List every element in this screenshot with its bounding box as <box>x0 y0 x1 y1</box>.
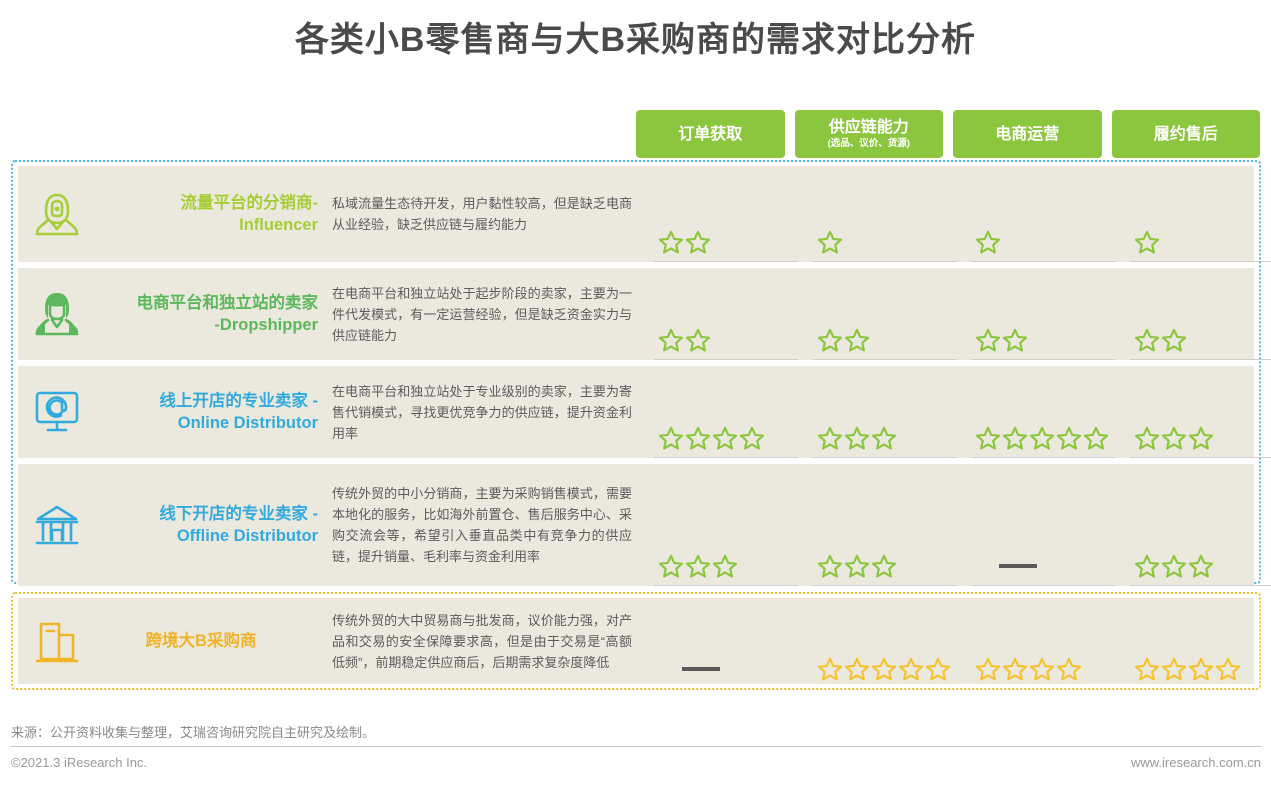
column-header-3: 电商运营 <box>953 110 1102 158</box>
rating-stars <box>813 325 870 355</box>
star-icon <box>1161 656 1187 682</box>
rating-stars <box>1130 227 1160 257</box>
star-icon <box>844 327 870 353</box>
rating-stars <box>654 423 765 453</box>
row-title: 流量平台的分销商-Influencer <box>84 192 328 236</box>
rating-underline <box>1130 261 1271 262</box>
rating-stars <box>1130 325 1187 355</box>
star-icon <box>817 229 843 255</box>
star-icon <box>1134 656 1160 682</box>
row-title: 跨境大B采购商 <box>84 630 328 652</box>
rating-underline <box>654 585 798 586</box>
rating-stars <box>1130 423 1214 453</box>
star-icon <box>685 327 711 353</box>
row-label-cell: 线下开店的专业卖家 -Offline Distributor <box>18 464 328 586</box>
column-header-label: 供应链能力 <box>829 118 909 137</box>
rating-stars <box>813 551 897 581</box>
rating-strip <box>654 464 1271 586</box>
rating-stars <box>813 654 951 684</box>
rating-underline <box>971 457 1115 458</box>
star-icon <box>871 656 897 682</box>
column-header-2: 供应链能力(选品、议价、货源) <box>795 110 944 158</box>
star-icon <box>658 553 684 579</box>
warehouse-building-icon <box>33 617 81 665</box>
website-text: www.iresearch.com.cn <box>1131 755 1261 770</box>
rating-stars <box>971 423 1109 453</box>
rating-stars <box>1130 654 1241 684</box>
star-icon <box>658 229 684 255</box>
star-icon <box>1134 553 1160 579</box>
star-icon <box>739 425 765 451</box>
star-icon <box>685 229 711 255</box>
rating-strip <box>654 268 1271 360</box>
rating-stars <box>1130 551 1214 581</box>
rating-underline <box>971 359 1115 360</box>
monitor-at-icon <box>30 385 84 439</box>
column-header-label: 履约售后 <box>1154 125 1218 144</box>
rating-underline <box>654 261 798 262</box>
small-b-retailers-block: 流量平台的分销商-Influencer私域流量生态待开发，用户黏性较高，但是缺乏… <box>11 160 1261 584</box>
rating-underline <box>813 585 957 586</box>
rating-cell <box>654 598 803 684</box>
storefront-icon <box>30 498 84 552</box>
table-row: 线上开店的专业卖家 -Online Distributor在电商平台和独立站处于… <box>18 366 1254 458</box>
column-header-sublabel: (选品、议价、货源) <box>828 138 910 150</box>
rating-strip <box>654 166 1271 262</box>
star-icon <box>1161 553 1187 579</box>
star-icon <box>658 327 684 353</box>
star-icon <box>1134 425 1160 451</box>
star-icon <box>1188 425 1214 451</box>
star-icon <box>925 656 951 682</box>
star-icon <box>712 553 738 579</box>
influencer-person-icon <box>30 187 84 241</box>
rating-cell <box>971 268 1120 360</box>
rating-cell <box>1130 366 1271 458</box>
rating-cell <box>1130 166 1271 262</box>
star-icon <box>1188 656 1214 682</box>
rating-stars <box>971 227 1001 257</box>
row-label-cell: 线上开店的专业卖家 -Online Distributor <box>18 366 328 458</box>
rating-underline <box>813 261 957 262</box>
copyright-text: ©2021.3 iResearch Inc. <box>11 755 147 770</box>
row-description: 传统外贸的中小分销商，主要为采购销售模式，需要本地化的服务，比如海外前置仓、售后… <box>328 464 638 586</box>
source-note: 来源：公开资料收集与整理，艾瑞咨询研究院自主研究及绘制。 <box>11 722 1261 747</box>
row-description: 传统外贸的大中贸易商与批发商，议价能力强，对产品和交易的安全保障要求高，但是由于… <box>328 598 638 684</box>
monitor-at-icon <box>33 389 81 435</box>
column-header-1: 订单获取 <box>636 110 785 158</box>
column-header-label: 订单获取 <box>678 125 742 144</box>
star-icon <box>844 553 870 579</box>
rating-stars <box>971 654 1082 684</box>
star-icon <box>712 425 738 451</box>
star-icon <box>817 656 843 682</box>
rating-underline <box>813 457 957 458</box>
big-b-buyer-block: 跨境大B采购商传统外贸的大中贸易商与批发商，议价能力强，对产品和交易的安全保障要… <box>11 592 1261 690</box>
rating-underline <box>971 261 1115 262</box>
rating-stars <box>654 325 711 355</box>
rating-stars <box>813 227 843 257</box>
table-row: 电商平台和独立站的卖家-Dropshipper在电商平台和独立站处于起步阶段的卖… <box>18 268 1254 360</box>
rating-cell <box>813 268 962 360</box>
star-icon <box>1134 327 1160 353</box>
star-icon <box>1029 656 1055 682</box>
row-label-cell: 流量平台的分销商-Influencer <box>18 166 328 262</box>
dash-icon <box>682 667 720 671</box>
influencer-person-icon <box>34 189 80 239</box>
rating-strip <box>654 366 1271 458</box>
star-icon <box>1161 425 1187 451</box>
rating-cell <box>1130 464 1271 586</box>
dash-icon <box>999 564 1037 568</box>
footer-bar: ©2021.3 iResearch Inc. www.iresearch.com… <box>11 755 1261 770</box>
rating-cell <box>813 464 962 586</box>
warehouse-building-icon <box>30 614 84 668</box>
star-icon <box>685 425 711 451</box>
infographic-page: 各类小B零售商与大B采购商的需求对比分析 订单获取供应链能力(选品、议价、货源)… <box>0 0 1271 788</box>
rating-stars <box>654 227 711 257</box>
title-area: 各类小B零售商与大B采购商的需求对比分析 <box>0 0 1271 62</box>
star-icon <box>1056 425 1082 451</box>
rating-underline <box>971 585 1115 586</box>
row-description: 在电商平台和独立站处于起步阶段的卖家，主要为一件代发模式，有一定运营经验，但是缺… <box>328 268 638 360</box>
dropshipper-person-icon <box>30 287 84 341</box>
rating-stars <box>654 551 738 581</box>
rating-cell <box>813 366 962 458</box>
rating-underline <box>654 359 798 360</box>
rating-cell <box>654 366 803 458</box>
rating-cell <box>971 166 1120 262</box>
dropshipper-person-icon <box>34 289 80 339</box>
star-icon <box>871 553 897 579</box>
rating-cell <box>1130 268 1271 360</box>
rating-stars <box>813 423 897 453</box>
row-title: 线上开店的专业卖家 -Online Distributor <box>84 390 328 434</box>
row-description: 在电商平台和独立站处于专业级别的卖家，主要为寄售代销模式，寻找更优竞争力的供应链… <box>328 366 638 458</box>
star-icon <box>1002 425 1028 451</box>
rating-strip <box>654 598 1271 684</box>
star-icon <box>975 327 1001 353</box>
star-icon <box>1134 229 1160 255</box>
star-icon <box>1083 425 1109 451</box>
star-icon <box>844 656 870 682</box>
rating-cell <box>971 464 1120 586</box>
star-icon <box>685 553 711 579</box>
star-icon <box>871 425 897 451</box>
star-icon <box>817 553 843 579</box>
star-icon <box>1056 656 1082 682</box>
rating-cell <box>654 166 803 262</box>
column-header-label: 电商运营 <box>995 125 1059 144</box>
rating-stars <box>654 654 720 684</box>
star-icon <box>1002 656 1028 682</box>
rating-underline <box>1130 457 1271 458</box>
table-row: 流量平台的分销商-Influencer私域流量生态待开发，用户黏性较高，但是缺乏… <box>18 166 1254 262</box>
star-icon <box>844 425 870 451</box>
rating-underline <box>654 457 798 458</box>
row-description: 私域流量生态待开发，用户黏性较高，但是缺乏电商从业经验，缺乏供应链与履约能力 <box>328 166 638 262</box>
star-icon <box>1161 327 1187 353</box>
rating-cell <box>654 268 803 360</box>
star-icon <box>975 229 1001 255</box>
star-icon <box>1188 553 1214 579</box>
rating-cell <box>1130 598 1271 684</box>
rating-cell <box>654 464 803 586</box>
star-icon <box>817 327 843 353</box>
column-header-4: 履约售后 <box>1112 110 1261 158</box>
rating-stars <box>971 551 1037 581</box>
row-title: 线下开店的专业卖家 -Offline Distributor <box>84 503 328 547</box>
page-title: 各类小B零售商与大B采购商的需求对比分析 <box>0 18 1271 62</box>
star-icon <box>1215 656 1241 682</box>
star-icon <box>1002 327 1028 353</box>
row-label-cell: 跨境大B采购商 <box>18 598 328 684</box>
row-label-cell: 电商平台和独立站的卖家-Dropshipper <box>18 268 328 360</box>
star-icon <box>975 425 1001 451</box>
rating-cell <box>971 598 1120 684</box>
table-row: 线下开店的专业卖家 -Offline Distributor传统外贸的中小分销商… <box>18 464 1254 586</box>
rating-underline <box>813 359 957 360</box>
star-icon <box>658 425 684 451</box>
star-icon <box>817 425 843 451</box>
rating-stars <box>971 325 1028 355</box>
row-title: 电商平台和独立站的卖家-Dropshipper <box>84 292 328 336</box>
storefront-icon <box>33 502 81 548</box>
rating-cell <box>971 366 1120 458</box>
rating-cell <box>813 166 962 262</box>
table-row: 跨境大B采购商传统外贸的大中贸易商与批发商，议价能力强，对产品和交易的安全保障要… <box>18 598 1254 684</box>
star-icon <box>975 656 1001 682</box>
rating-underline <box>1130 359 1271 360</box>
column-header-row: 订单获取供应链能力(选品、议价、货源)电商运营履约售后 <box>636 110 1260 158</box>
star-icon <box>1029 425 1055 451</box>
star-icon <box>898 656 924 682</box>
rating-cell <box>813 598 962 684</box>
rating-underline <box>1130 585 1271 586</box>
